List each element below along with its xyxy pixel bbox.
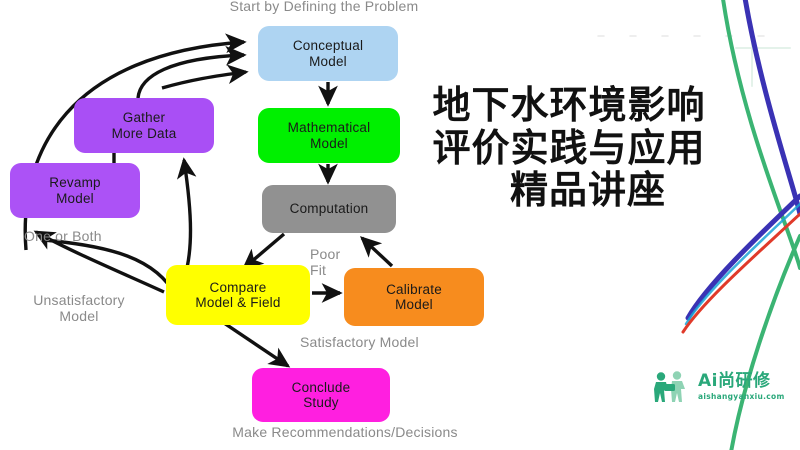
node-label-line1: Mathematical (288, 120, 371, 135)
logo-url: aishangyanxiu.com (698, 393, 785, 401)
node-gather-more-data[interactable]: Gather More Data (74, 98, 214, 153)
node-conclude-study[interactable]: Conclude Study (252, 368, 390, 422)
arrow-computation-to-compare (244, 234, 284, 268)
node-label-line2: Model (288, 136, 371, 151)
people-icon (652, 370, 692, 404)
node-label-line1: Conceptual (293, 38, 363, 53)
node-compare-model-and-field[interactable]: Compare Model & Field (166, 265, 310, 325)
node-revamp-model[interactable]: Revamp Model (10, 163, 140, 218)
logo-text-block: Ai尚研修 aishangyanxiu.com (698, 373, 785, 401)
node-label-line2: More Data (112, 126, 177, 141)
course-title-line-2: 评价实践与应用 (404, 127, 734, 170)
node-conceptual-model[interactable]: Conceptual Model (258, 26, 398, 81)
node-label-line2: Model (386, 297, 442, 312)
node-label-line1: Computation (290, 201, 369, 216)
annotation-start-by-defining-the-problem: Start by Defining the Problem (196, 0, 452, 14)
arrow-compare-to-conclude (224, 323, 288, 366)
annotation-one-or-both: One or Both (24, 228, 174, 244)
node-label-line2: Model & Field (195, 295, 280, 310)
course-title-line-1: 地下水环境影响 (404, 84, 734, 127)
node-label-line2: Model (49, 191, 100, 206)
node-label-line1: Compare (195, 280, 280, 295)
annotation-unsatisfactory-model: Unsatisfactory Model (4, 292, 154, 324)
course-title-line-3: 精品讲座 (404, 169, 734, 212)
node-label-line1: Gather (112, 110, 177, 125)
logo-name: Ai尚研修 (698, 373, 785, 390)
arrow-gather-to-conceptual-lower (162, 72, 246, 88)
node-label-line2: Model (293, 54, 363, 69)
annotation-poor-fit: Poor Fit (310, 246, 368, 278)
annotation-make-recommendations-decisions: Make Recommendations/Decisions (175, 424, 515, 440)
annotation-satisfactory-model: Satisfactory Model (300, 334, 500, 350)
slide-canvas: Conceptual Model Gather More Data Mathem… (0, 0, 800, 450)
arrow-gather-to-conceptual-upper (138, 55, 244, 98)
node-label-line1: Conclude (292, 380, 351, 395)
course-title: 地下水环境影响 评价实践与应用 精品讲座 (404, 84, 734, 212)
node-mathematical-model[interactable]: Mathematical Model (258, 108, 400, 163)
node-label-line1: Calibrate (386, 282, 442, 297)
node-label-line1: Revamp (49, 175, 100, 190)
node-computation[interactable]: Computation (262, 185, 396, 233)
node-label-line2: Study (292, 395, 351, 410)
brand-logo[interactable]: Ai尚研修 aishangyanxiu.com (652, 370, 785, 404)
